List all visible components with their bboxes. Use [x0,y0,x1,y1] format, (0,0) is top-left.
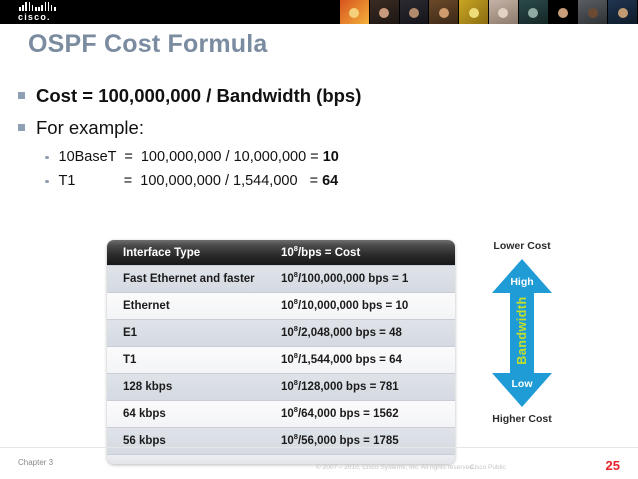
bandwidth-diagram: Lower Cost High Bandwidth Low Higher Cos… [466,240,578,425]
cell-formula: 108/56,000 bps = 1785 [270,435,455,447]
banner-photo [429,0,459,24]
chapter-label: Chapter 3 [18,458,53,467]
cell-interface: 56 kbps [107,435,270,447]
table-row: 56 kbps 108/56,000 bps = 1785 [107,427,455,454]
cisco-logo: cisco. [0,0,340,24]
table-header-cost-formula: 108/bps = Cost [270,247,455,259]
sub-bullet-expression: = 100,000,000 / 1,544,000 = [75,173,322,189]
sub-bullet-label: T1 [59,173,76,189]
banner-photo [489,0,519,24]
banner-photo [578,0,608,24]
bullet-item-for-example: For example: [18,116,488,141]
cell-interface: 64 kbps [107,408,270,420]
banner-photo [519,0,549,24]
cell-formula: 108/128,000 bps = 781 [270,381,455,393]
table-row: T1 108/1,544,000 bps = 64 [107,346,455,373]
footer-divider [0,447,638,448]
square-bullet-icon [18,92,25,99]
bullet-text: Cost = 100,000,000 / Bandwidth (bps) [36,84,361,109]
cell-interface: T1 [107,354,270,366]
dot-bullet-icon [45,180,49,184]
cell-formula: 108/2,048,000 bps = 48 [270,327,455,339]
banner-photo [459,0,489,24]
sub-bullet-item-t1: T1 = 100,000,000 / 1,544,000 = 64 [45,172,488,192]
sub-bullet-result: 10 [323,149,339,165]
copyright-notice: © 2007 – 2010, Cisco Systems, Inc. All r… [316,464,475,471]
table-header-interface-type: Interface Type [107,247,270,259]
cisco-wordmark: cisco. [18,12,64,22]
square-bullet-icon [18,124,25,131]
cisco-bridge-icon [18,2,64,11]
banner-photo-strip [340,0,638,24]
cell-interface: 128 kbps [107,381,270,393]
bandwidth-double-arrow-icon: High Bandwidth Low [466,257,578,409]
ospf-cost-table: Interface Type 108/bps = Cost Fast Ether… [107,240,455,464]
cell-formula: 108/10,000,000 bps = 10 [270,300,455,312]
cell-formula: 108/100,000,000 bps = 1 [270,273,455,285]
sub-bullet-label: 10BaseT [59,149,117,165]
table-row: E1 108/2,048,000 bps = 48 [107,319,455,346]
table-row: 64 kbps 108/64,000 bps = 1562 [107,400,455,427]
sub-bullet-expression: = 100,000,000 / 10,000,000 = [116,149,322,165]
dot-bullet-icon [45,156,49,160]
page-title: OSPF Cost Formula [28,30,268,59]
classification-label: Cisco Public [470,464,506,471]
banner-photo [608,0,638,24]
table-row: Fast Ethernet and faster 108/100,000,000… [107,265,455,292]
bullet-list: Cost = 100,000,000 / Bandwidth (bps) For… [18,84,488,195]
cell-interface: Fast Ethernet and faster [107,273,270,285]
cell-interface: Ethernet [107,300,270,312]
page-number: 25 [606,458,620,473]
sub-bullet-text: T1 = 100,000,000 / 1,544,000 = 64 [59,172,339,192]
higher-cost-caption: Higher Cost [466,413,578,425]
table-row: Ethernet 108/10,000,000 bps = 10 [107,292,455,319]
sub-bullet-text: 10BaseT = 100,000,000 / 10,000,000 = 10 [59,148,339,168]
table-row: 128 kbps 108/128,000 bps = 781 [107,373,455,400]
banner-photo [400,0,430,24]
sub-bullet-item-10baset: 10BaseT = 100,000,000 / 10,000,000 = 10 [45,148,488,168]
top-banner: cisco. [0,0,638,24]
bullet-text: For example: [36,116,144,141]
banner-photo [549,0,579,24]
cell-formula: 108/1,544,000 bps = 64 [270,354,455,366]
arrow-low-label: Low [466,378,578,390]
cell-interface: E1 [107,327,270,339]
cell-formula: 108/64,000 bps = 1562 [270,408,455,420]
bullet-item-cost-formula: Cost = 100,000,000 / Bandwidth (bps) [18,84,488,109]
sub-bullet-result: 64 [322,173,338,189]
banner-photo [340,0,370,24]
table-footer-strip [107,454,455,464]
lower-cost-caption: Lower Cost [466,240,578,252]
banner-photo [370,0,400,24]
table-header-row: Interface Type 108/bps = Cost [107,240,455,265]
arrow-high-label: High [466,276,578,288]
